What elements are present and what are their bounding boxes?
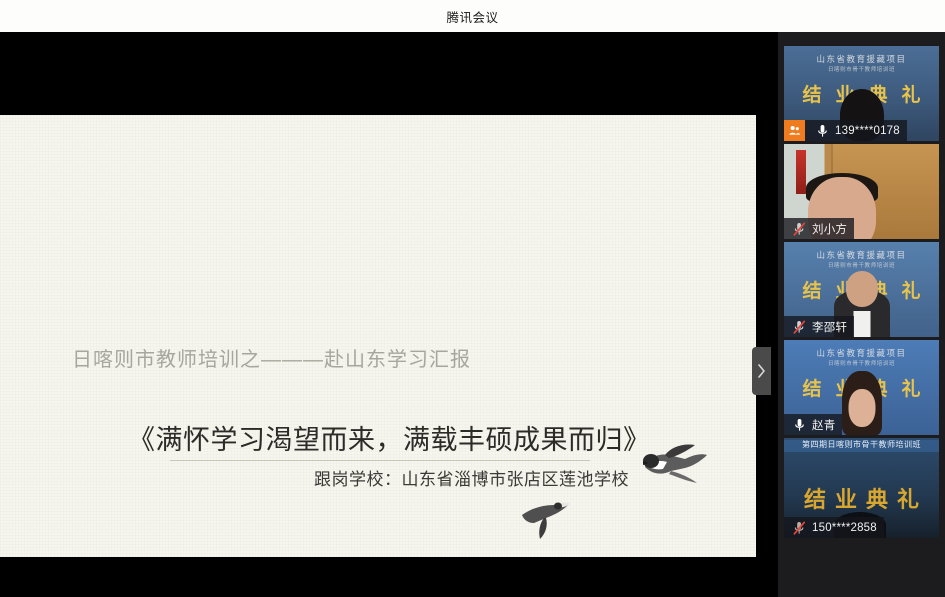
person-shirt — [853, 311, 870, 337]
host-people-icon — [784, 120, 805, 141]
participant-sidebar[interactable]: 山东省教育援藏项目 日喀则市骨干教师培训班 结业典礼 — [778, 32, 945, 597]
participant-label: 刘小方 — [784, 218, 854, 239]
participant-name: 139****0178 — [835, 125, 900, 137]
mic-muted-icon — [791, 220, 808, 237]
participant-tile[interactable]: 山东省教育援藏项目 日喀则市骨干教师培训班 结业典礼 赵青 — [784, 340, 939, 435]
scene-banner-text: 山东省教育援藏项目 — [784, 46, 939, 65]
scene-subtitle-text: 日喀则市骨干教师培训班 — [784, 261, 939, 269]
slide-school-line: 跟岗学校：山东省淄博市张店区莲池学校 — [314, 465, 629, 490]
participant-name: 赵青 — [812, 417, 835, 433]
background-lamp — [796, 150, 806, 194]
participant-label: 赵青 — [784, 414, 842, 435]
participant-name: 刘小方 — [812, 221, 847, 237]
slide-title: 《满怀学习渴望而来，满载丰硕成果而归》 — [128, 418, 651, 457]
participant-tile[interactable]: 山东省教育援藏项目 日喀则市骨干教师培训班 结业典礼 — [784, 46, 939, 141]
swallow-bird-icon — [627, 441, 711, 498]
person-face — [846, 271, 878, 307]
title-divider — [170, 460, 590, 461]
scene-subtitle-text: 日喀则市骨干教师培训班 — [784, 65, 939, 73]
participant-name: 150****2858 — [812, 522, 877, 534]
mic-on-icon — [791, 416, 808, 433]
window-titlebar: 腾讯会议 — [0, 0, 945, 32]
swallow-bird-icon — [512, 493, 574, 546]
projector-title-text: 第四期日喀则市骨干教师培训班 — [784, 439, 939, 450]
participant-tile[interactable]: 第四期日喀则市骨干教师培训班 结业典礼 150****2858 — [784, 438, 939, 538]
slide-subtitle: 日喀则市教师培训之———赴山东学习汇报 — [72, 343, 471, 372]
participant-label: 139****0178 — [784, 120, 907, 141]
person-face — [848, 389, 875, 427]
chevron-right-icon[interactable] — [752, 347, 771, 395]
presentation-slide: 日喀则市教师培训之———赴山东学习汇报 《满怀学习渴望而来，满载丰硕成果而归》 … — [0, 115, 756, 557]
participant-tile[interactable]: 山东省教育援藏项目 日喀则市骨干教师培训班 结业典礼 李邵轩 — [784, 242, 939, 337]
scene-banner-text: 山东省教育援藏项目 — [784, 340, 939, 359]
scene-banner-text: 山东省教育援藏项目 — [784, 242, 939, 261]
projector-headline-text: 结业典礼 — [784, 482, 939, 514]
participant-tile[interactable]: 刘小方 — [784, 144, 939, 239]
scene-subtitle-text: 日喀则市骨干教师培训班 — [784, 359, 939, 367]
participant-label: 李邵轩 — [784, 316, 854, 337]
mic-on-icon — [814, 122, 831, 139]
participant-label: 150****2858 — [784, 517, 884, 538]
tencent-meeting-window: 腾讯会议 日喀则市教师培训之———赴山东学习汇报 《满怀学习渴望而来，满载丰硕成… — [0, 0, 945, 597]
mic-muted-icon — [791, 318, 808, 335]
shared-screen-stage[interactable]: 日喀则市教师培训之———赴山东学习汇报 《满怀学习渴望而来，满载丰硕成果而归》 … — [0, 32, 778, 597]
app-title: 腾讯会议 — [446, 7, 498, 26]
mic-muted-icon — [791, 519, 808, 536]
participant-name: 李邵轩 — [812, 319, 847, 335]
